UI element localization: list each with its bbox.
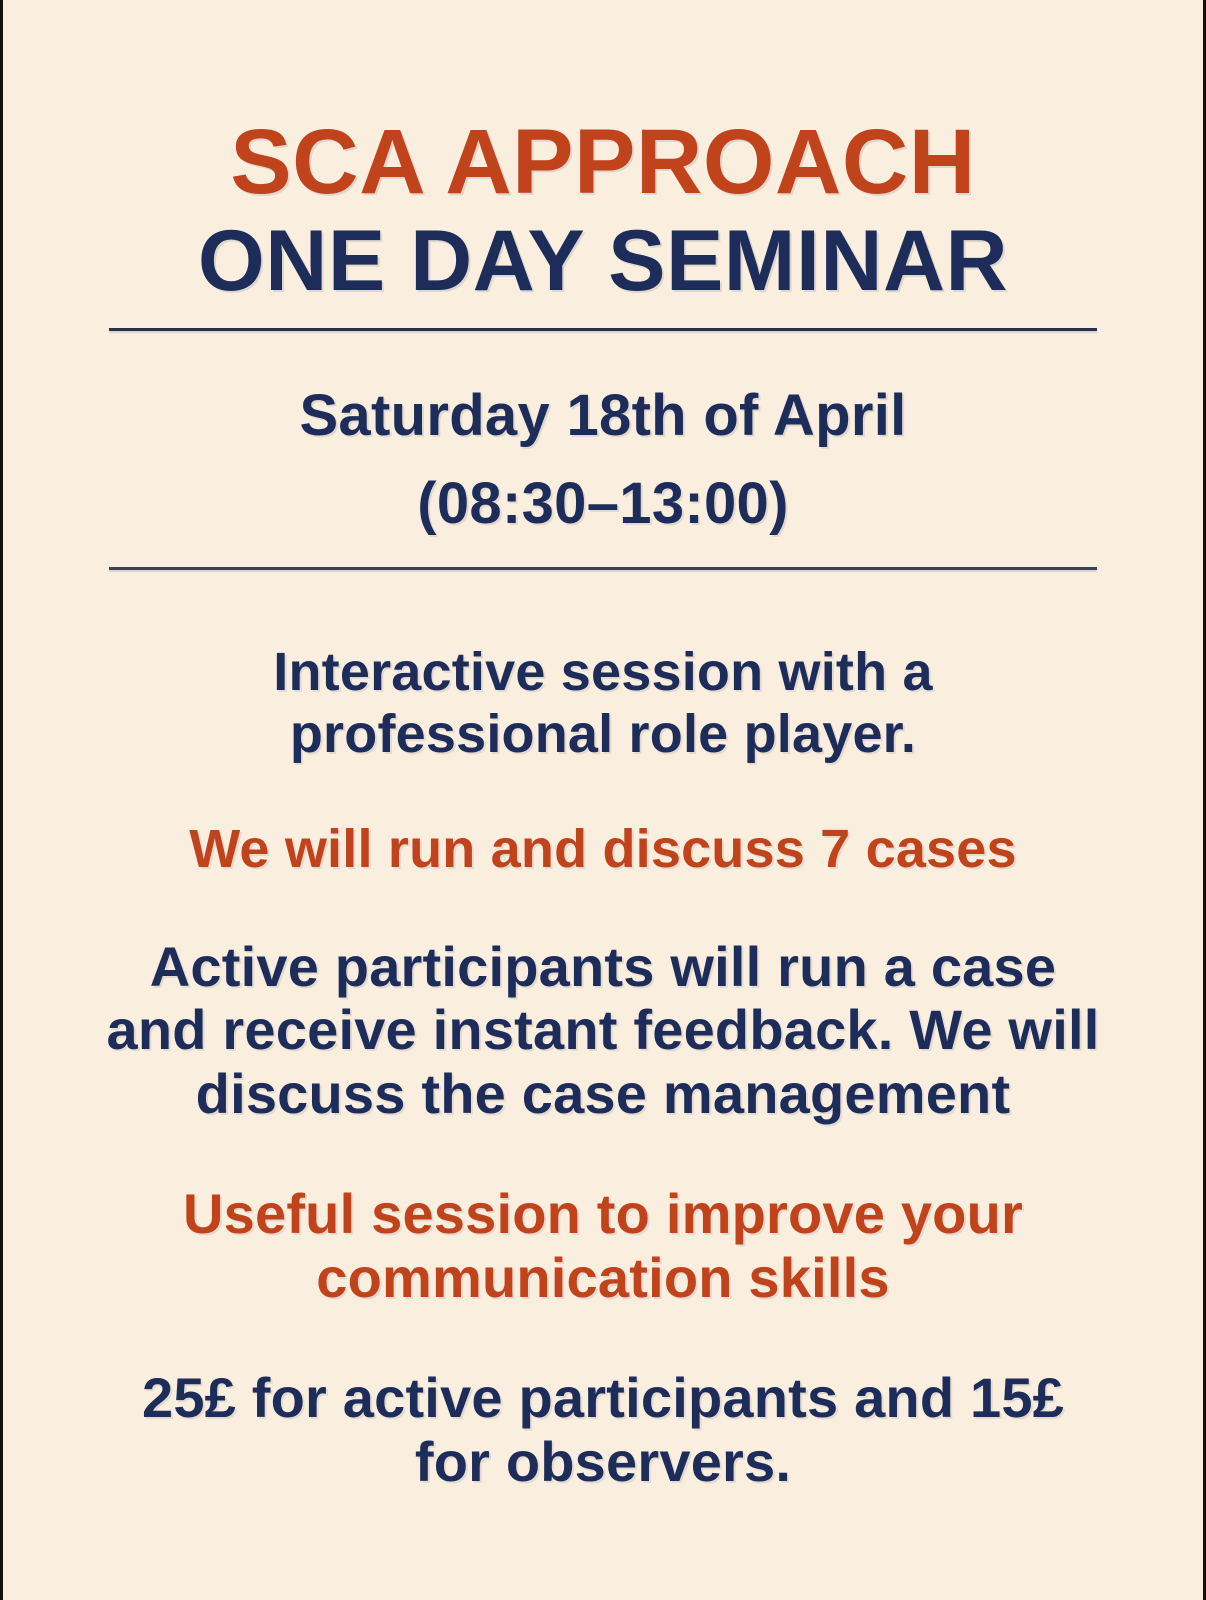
detail-cases-count: We will run and discuss 7 cases bbox=[0, 819, 1206, 881]
poster-title-primary: SCA APPROACH bbox=[0, 116, 1206, 210]
detail-active-participants: Active participants will run a case and … bbox=[0, 935, 1206, 1126]
detail-line: We will run and discuss 7 cases bbox=[58, 819, 1148, 881]
detail-line: communication skills bbox=[58, 1246, 1148, 1310]
detail-line: Interactive session with a bbox=[58, 642, 1148, 704]
schedule-block: Saturday 18th of April (08:30–13:00) bbox=[0, 379, 1206, 541]
divider-rule-bottom bbox=[109, 567, 1097, 570]
divider-rule-top bbox=[109, 328, 1097, 331]
detail-line: 25£ for active participants and 15£ bbox=[58, 1366, 1148, 1430]
left-scan-edge bbox=[0, 0, 3, 1600]
seminar-poster: SCA APPROACH ONE DAY SEMINAR Saturday 18… bbox=[0, 0, 1206, 1600]
seminar-date: Saturday 18th of April bbox=[0, 379, 1206, 453]
detail-line: Active participants will run a case bbox=[58, 935, 1148, 999]
detail-communication-skills: Useful session to improve your communica… bbox=[0, 1182, 1206, 1310]
detail-line: professional role player. bbox=[58, 704, 1148, 766]
detail-line: and receive instant feedback. We will bbox=[58, 998, 1148, 1062]
detail-pricing: 25£ for active participants and 15£ for … bbox=[0, 1366, 1206, 1494]
poster-header: SCA APPROACH ONE DAY SEMINAR bbox=[0, 0, 1206, 306]
seminar-time: (08:30–13:00) bbox=[0, 467, 1206, 541]
detail-line: discuss the case management bbox=[58, 1062, 1148, 1126]
detail-line: for observers. bbox=[58, 1430, 1148, 1494]
detail-interactive-session: Interactive session with a professional … bbox=[0, 642, 1206, 765]
detail-line: Useful session to improve your bbox=[58, 1182, 1148, 1246]
poster-title-secondary: ONE DAY SEMINAR bbox=[0, 218, 1206, 306]
